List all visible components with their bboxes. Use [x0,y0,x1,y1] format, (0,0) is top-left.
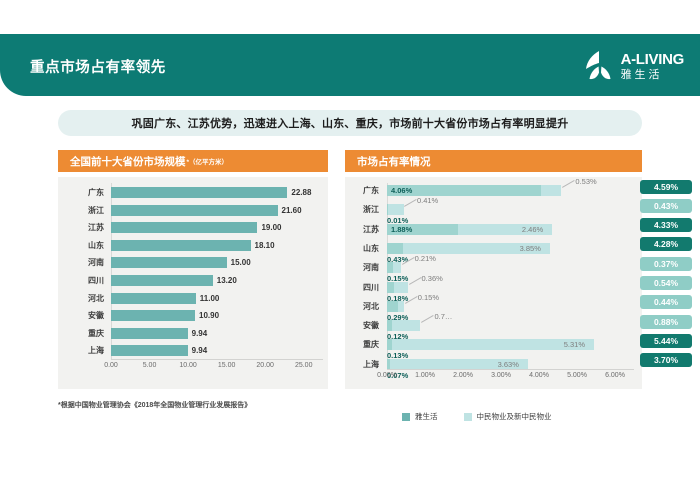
left-chart-row-label: 河南 [58,257,111,268]
right-chart-row-track: 0.29%0.15% [387,301,642,312]
left-chart-row-track: 11.00 [111,289,328,308]
right-chart-row-label: 江苏 [345,224,379,235]
market-share-total-badge: 4.28% [640,237,692,251]
right-chart-row-track: 0.12%0.7… [387,320,642,331]
legend-label: 中民物业及新中民物业 [477,411,552,422]
right-panel-heading: 市场占有率情况 [345,150,642,172]
legend-label: 雅生活 [415,411,438,422]
market-share-total-badge: 0.88% [640,315,692,329]
left-chart-xtick: 5.00 [143,362,157,369]
right-chart-segment-label-zhongmin: 0.36% [422,273,443,284]
right-chart-row-track: 0.01%0.41% [387,204,642,215]
right-chart-xtick: 5.00% [567,372,587,379]
left-chart-bar [111,275,213,286]
right-chart-segment-yaliving [387,301,398,312]
right-chart-segment-label-yaliving: 4.06% [391,185,412,196]
left-chart-row-track: 15.00 [111,253,328,272]
market-share-total-badge: 5.44% [640,334,692,348]
legend-swatch [464,413,472,421]
left-chart-baseline [111,359,323,360]
left-chart-row-track: 9.94 [111,324,328,343]
right-chart-xtick: 6.00% [605,372,625,379]
left-chart-bar-value: 19.00 [261,222,281,233]
right-chart-segment-yaliving [387,243,403,254]
right-chart-row: 河南0.15%0.21% [345,258,642,278]
market-share-total-badge: 0.54% [640,276,692,290]
right-chart-row-label: 上海 [345,359,379,370]
left-chart-row-track: 19.00 [111,218,328,237]
right-chart-row: 山东0.43%3.85% [345,239,642,259]
right-chart-segment-label-zhongmin: 0.7… [434,311,452,322]
right-chart-row-label: 浙江 [345,204,379,215]
right-chart-segment-zhongmin [388,204,404,215]
right-chart-segment-label-zhongmin: 0.53% [575,176,596,187]
left-chart-bar-value: 9.94 [192,328,208,339]
left-chart-row-track: 9.94 [111,341,328,360]
right-chart-segment-label-zhongmin: 2.46% [522,224,543,235]
left-chart-bar-value: 18.10 [255,240,275,251]
left-chart-xtick: 15.00 [218,362,236,369]
right-chart-leader-line [562,180,575,188]
right-chart-row-label: 河南 [345,262,379,273]
right-chart-row: 安徽0.12%0.7… [345,316,642,336]
right-chart-segment-label-yaliving: 1.88% [391,224,412,235]
market-share-total-badge: 4.59% [640,180,692,194]
left-chart-bar-value: 11.00 [200,293,220,304]
left-chart-row-label: 河北 [58,293,111,304]
market-share-total-badge: 0.37% [640,257,692,271]
right-chart-xtick: 0.00% [377,372,397,379]
leaf-logo-icon [585,50,615,82]
right-chart-segment-label-zhongmin: 0.41% [417,195,438,206]
legend-item: 雅生活 [402,411,438,422]
right-chart-segment-label-zhongmin: 0.15% [418,292,439,303]
footnote: *根据中国物业管理协会《2018年全国物业管理行业发展报告》 [58,400,251,410]
left-chart-row-track: 21.60 [111,201,328,220]
left-chart-xtick: 0.00 [104,362,118,369]
right-chart-segment-label-zhongmin: 0.21% [415,253,436,264]
left-chart-bar-value: 21.60 [282,205,302,216]
left-chart-row-label: 重庆 [58,328,111,339]
left-panel-heading-label: 全国前十大省份市场规模 [58,154,186,169]
right-chart-row-label: 河北 [345,301,379,312]
right-chart-leader-line [402,257,415,265]
right-chart-segment-zhongmin [392,320,421,331]
right-chart-segment-yaliving [387,282,394,293]
right-chart-row-track: 0.13%5.31% [387,339,642,350]
left-chart-bar-value: 9.94 [192,345,208,356]
left-chart-bar [111,257,227,268]
left-chart-row: 山东18.10 [58,236,328,255]
left-chart-bar [111,187,287,198]
logo-wordmark: A-LIVING 雅生活 [621,52,684,81]
left-chart-row: 江苏19.00 [58,218,328,237]
right-chart-segment-label-zhongmin: 5.31% [564,339,585,350]
left-chart-row-track: 22.88 [111,183,328,202]
left-chart-bar-value: 22.88 [291,187,311,198]
left-chart-bar-value: 10.90 [199,310,219,321]
legend-item: 中民物业及新中民物业 [464,411,552,422]
right-chart-segment-label-zhongmin: 3.85% [520,243,541,254]
logo-name: A-LIVING [621,52,684,67]
subtitle-banner: 巩固广东、江苏优势，迅速进入上海、山东、重庆，市场前十大省份市场占有率明显提升 [58,110,642,136]
left-chart-bar [111,310,195,321]
left-chart-bar [111,222,257,233]
left-chart-row-track: 18.10 [111,236,328,255]
market-share-stacked-chart: 广东4.06%0.53%浙江0.01%0.41%江苏1.88%2.46%山东0.… [345,177,642,389]
right-chart-leader-line [421,315,434,323]
right-chart-row: 河北0.29%0.15% [345,297,642,317]
right-chart-row-label: 山东 [345,243,379,254]
left-chart-row: 浙江21.60 [58,201,328,220]
left-chart-bar [111,345,188,356]
right-chart-leader-line [404,199,417,207]
chart-legend: 雅生活中民物业及新中民物业 [402,411,552,422]
market-scale-bar-chart: 广东22.88浙江21.60江苏19.00山东18.10河南15.00四川13.… [58,177,328,389]
left-chart-bar [111,293,196,304]
left-chart-row-label: 江苏 [58,222,111,233]
left-chart-panel: 广东22.88浙江21.60江苏19.00山东18.10河南15.00四川13.… [58,177,328,389]
right-chart-row: 江苏1.88%2.46% [345,220,642,240]
brand-logo: A-LIVING 雅生活 [585,48,684,84]
market-share-total-badge: 0.43% [640,199,692,213]
right-chart-row: 重庆0.13%5.31% [345,335,642,355]
left-chart-row-track: 13.20 [111,271,328,290]
right-chart-panel: 广东4.06%0.53%浙江0.01%0.41%江苏1.88%2.46%山东0.… [345,177,642,389]
left-chart-row-label: 安徽 [58,310,111,321]
right-chart-row-label: 安徽 [345,320,379,331]
right-chart-segment-zhongmin [541,185,561,196]
slide: 重点市场占有率领先 A-LIVING 雅生活 巩固广东、江苏优势，迅速进入上海、… [0,0,700,486]
right-chart-xtick: 4.00% [529,372,549,379]
left-chart-row-label: 浙江 [58,205,111,216]
right-chart-xtick: 3.00% [491,372,511,379]
right-chart-baseline [387,369,634,370]
right-panel-heading-label: 市场占有率情况 [345,154,431,169]
left-chart-row-label: 广东 [58,187,111,198]
market-share-total-badge: 3.70% [640,353,692,367]
left-chart-bar [111,205,278,216]
left-chart-row-track: 10.90 [111,306,328,325]
logo-subname: 雅生活 [621,70,684,81]
right-chart-row-label: 四川 [345,282,379,293]
right-chart-row: 四川0.18%0.36% [345,278,642,298]
right-chart-row-label: 重庆 [345,339,379,350]
left-chart-bar-value: 15.00 [231,257,251,268]
left-chart-xtick: 20.00 [256,362,274,369]
market-share-total-badge: 4.33% [640,218,692,232]
right-chart-xtick: 1.00% [415,372,435,379]
right-chart-segment-zhongmin [393,262,401,273]
right-chart-segment-zhongmin [398,301,404,312]
market-share-total-badge: 0.44% [640,295,692,309]
left-chart-row-label: 上海 [58,345,111,356]
right-chart-segment-zhongmin [394,282,408,293]
left-chart-row: 安徽10.90 [58,306,328,325]
right-chart-row: 浙江0.01%0.41% [345,200,642,220]
page-title: 重点市场占有率领先 [30,56,166,77]
left-chart-row-label: 山东 [58,240,111,251]
left-chart-xtick: 10.00 [179,362,197,369]
right-chart-leader-line [409,277,422,285]
left-panel-heading: 全国前十大省份市场规模 *（亿平方米） [58,150,328,172]
left-panel-heading-note: *（亿平方米） [186,156,229,167]
legend-swatch [402,413,410,421]
left-chart-row-label: 四川 [58,275,111,286]
left-chart-bar-value: 13.20 [217,275,237,286]
right-chart-xtick: 2.00% [453,372,473,379]
left-chart-row: 河北11.00 [58,289,328,308]
left-chart-row: 河南15.00 [58,253,328,272]
left-chart-xtick: 25.00 [295,362,313,369]
left-chart-row: 上海9.94 [58,341,328,360]
left-chart-row: 重庆9.94 [58,324,328,343]
right-chart-row: 广东4.06%0.53% [345,181,642,201]
right-chart-leader-line [405,296,418,304]
subtitle-text: 巩固广东、江苏优势，迅速进入上海、山东、重庆，市场前十大省份市场占有率明显提升 [132,115,569,131]
right-chart-row-label: 广东 [345,185,379,196]
left-chart-bar [111,240,251,251]
left-chart-row: 四川13.20 [58,271,328,290]
right-chart-row-track: 1.88%2.46% [387,224,642,235]
left-chart-bar [111,328,188,339]
left-chart-row: 广东22.88 [58,183,328,202]
